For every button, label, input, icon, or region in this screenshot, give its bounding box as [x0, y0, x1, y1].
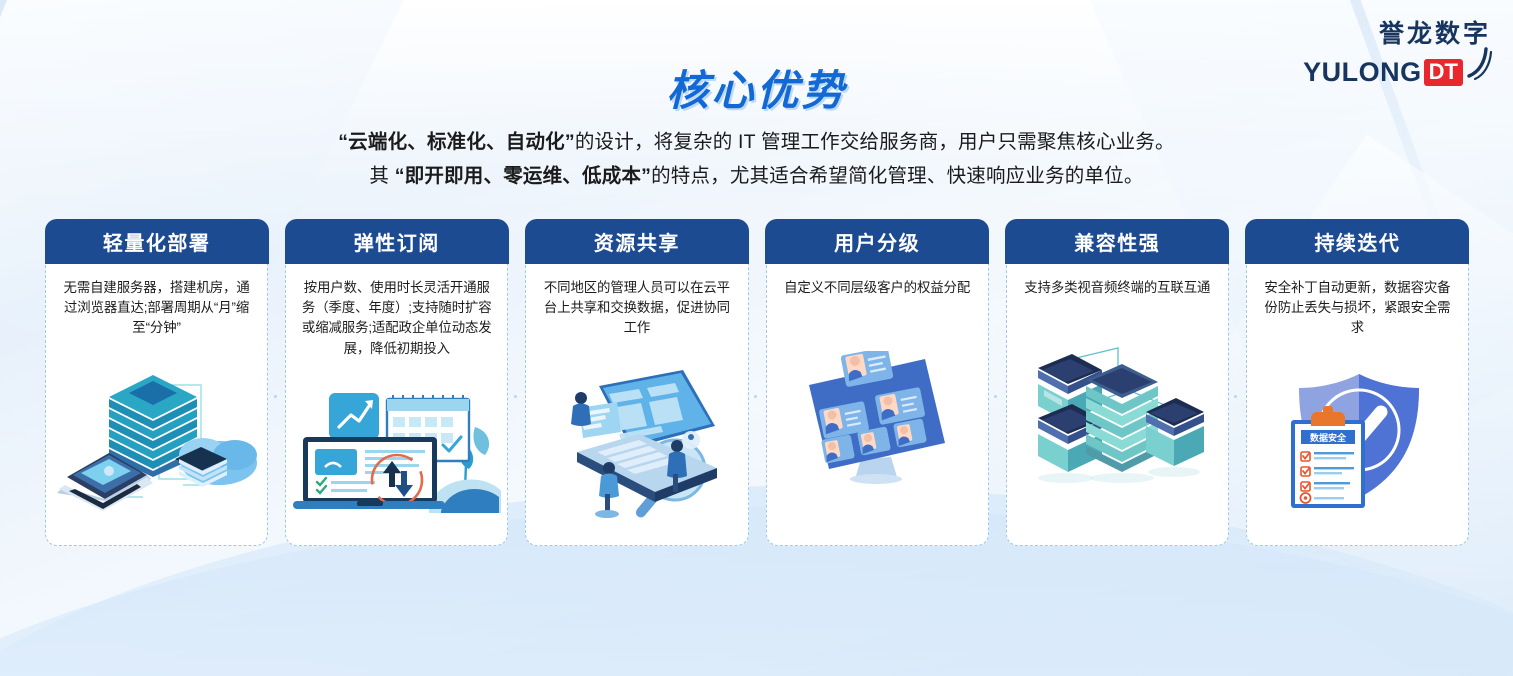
card-description: 不同地区的管理人员可以在云平台上共享和交换数据，促进协同工作 — [526, 264, 747, 339]
advantage-card-lightweight-deployment[interactable]: 轻量化部署 无需自建服务器，搭建机房，通过浏览器直达;部署周期从“月”缩至“分钟… — [45, 219, 268, 546]
card-title: 持续迭代 — [1245, 219, 1469, 264]
advantage-card-resource-sharing[interactable]: 资源共享 不同地区的管理人员可以在云平台上共享和交换数据，促进协同工作 — [525, 219, 748, 546]
advantage-card-elastic-subscription[interactable]: 弹性订阅 按用户数、使用时长灵活开通服务（季度、年度）;支持随时扩容或缩减服务;… — [285, 219, 508, 546]
card-divider-dot — [754, 395, 757, 398]
page-title: 核心优势 — [0, 57, 1513, 118]
card-title: 兼容性强 — [1005, 219, 1229, 264]
advantage-cards: 轻量化部署 无需自建服务器，搭建机房，通过浏览器直达;部署周期从“月”缩至“分钟… — [45, 219, 1469, 546]
server-laptop-cloud-illustration — [46, 339, 267, 545]
card-description: 无需自建服务器，搭建机房，通过浏览器直达;部署周期从“月”缩至“分钟” — [46, 264, 267, 339]
subtitle-line-1-quote: “云端化、标准化、自动化” — [338, 131, 575, 153]
card-description: 安全补丁自动更新，数据容灾备份防止丢失与损坏，紧跟安全需求 — [1247, 264, 1468, 339]
advantage-card-user-tiering[interactable]: 用户分级 自定义不同层级客户的权益分配 — [766, 219, 989, 546]
collaboration-laptop-illustration — [526, 339, 747, 545]
card-title: 弹性订阅 — [285, 219, 509, 264]
card-divider-dot — [274, 395, 277, 398]
subtitle-line-2-quote: “即开即用、零运维、低成本” — [395, 165, 651, 187]
card-title: 资源共享 — [525, 219, 749, 264]
logo-chinese-name: 誉龙数字 — [1303, 22, 1491, 47]
card-description: 支持多类视音频终端的互联互通 — [1007, 264, 1228, 298]
subtitle-line-2-prefix: 其 — [369, 165, 394, 187]
card-title: 用户分级 — [765, 219, 989, 264]
subtitle-line-2-rest: 的特点，尤其适合希望简化管理、快速响应业务的单位。 — [651, 165, 1144, 187]
card-divider-dot — [994, 395, 997, 398]
page-subtitle: “云端化、标准化、自动化”的设计，将复杂的 IT 管理工作交给服务商，用户只需聚… — [207, 126, 1307, 193]
card-divider-dot — [1234, 395, 1237, 398]
subtitle-line-2: 其 “即开即用、零运维、低成本”的特点，尤其适合希望简化管理、快速响应业务的单位… — [207, 160, 1307, 194]
monitor-user-cards-illustration — [767, 298, 988, 545]
server-racks-network-illustration — [1007, 298, 1228, 545]
laptop-calendar-sync-illustration — [286, 359, 507, 545]
subtitle-line-1: “云端化、标准化、自动化”的设计，将复杂的 IT 管理工作交给服务商，用户只需聚… — [207, 126, 1307, 160]
card-description: 自定义不同层级客户的权益分配 — [767, 264, 988, 298]
shield-checklist-illustration: 数据安全 — [1247, 339, 1468, 545]
advantage-card-continuous-iteration[interactable]: 持续迭代 安全补丁自动更新，数据容灾备份防止丢失与损坏，紧跟安全需求 — [1246, 219, 1469, 546]
card-divider-dot — [514, 395, 517, 398]
advantage-card-compatibility[interactable]: 兼容性强 支持多类视音频终端的互联互通 — [1006, 219, 1229, 546]
card-description: 按用户数、使用时长灵活开通服务（季度、年度）;支持随时扩容或缩减服务;适配政企单… — [286, 264, 507, 360]
clipboard-label-text: 数据安全 — [1310, 432, 1347, 443]
subtitle-line-1-rest: 的设计，将复杂的 IT 管理工作交给服务商，用户只需聚焦核心业务。 — [575, 131, 1175, 153]
card-title: 轻量化部署 — [45, 219, 269, 264]
